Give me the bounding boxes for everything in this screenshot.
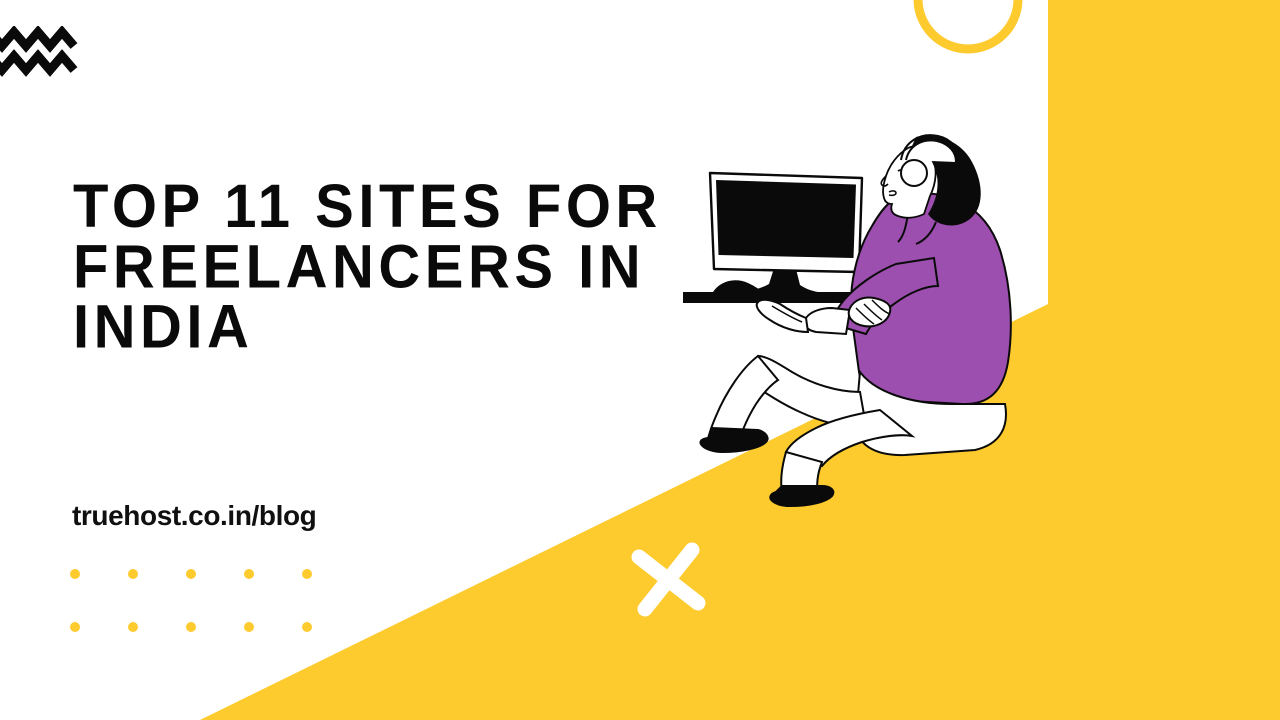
- cross-mark-icon: [622, 532, 718, 628]
- dot: [302, 569, 312, 579]
- dot-grid-row: [70, 569, 312, 579]
- dot-grid: [70, 569, 312, 675]
- site-url-label: truehost.co.in/blog: [72, 499, 316, 533]
- page-title: TOP 11 SITES FORFREELANCERS ININDIA: [73, 176, 713, 357]
- headline-line-3: INDIA: [73, 293, 253, 362]
- dot: [186, 569, 196, 579]
- head-with-headphones: [881, 135, 981, 225]
- dot-grid-row: [70, 622, 312, 632]
- dot: [186, 622, 196, 632]
- headline-line-2: FREELANCERS IN: [73, 232, 645, 301]
- dot: [302, 622, 312, 632]
- dot: [244, 569, 254, 579]
- dot: [128, 569, 138, 579]
- dot: [70, 622, 80, 632]
- banner-canvas: TOP 11 SITES FORFREELANCERS ININDIA true…: [0, 0, 1280, 720]
- title-block: TOP 11 SITES FORFREELANCERS ININDIA: [73, 176, 713, 347]
- dot: [70, 569, 80, 579]
- dot: [128, 622, 138, 632]
- headline-line-1: TOP 11 SITES FOR: [73, 172, 662, 241]
- dot: [244, 622, 254, 632]
- desktop-monitor: [710, 173, 862, 292]
